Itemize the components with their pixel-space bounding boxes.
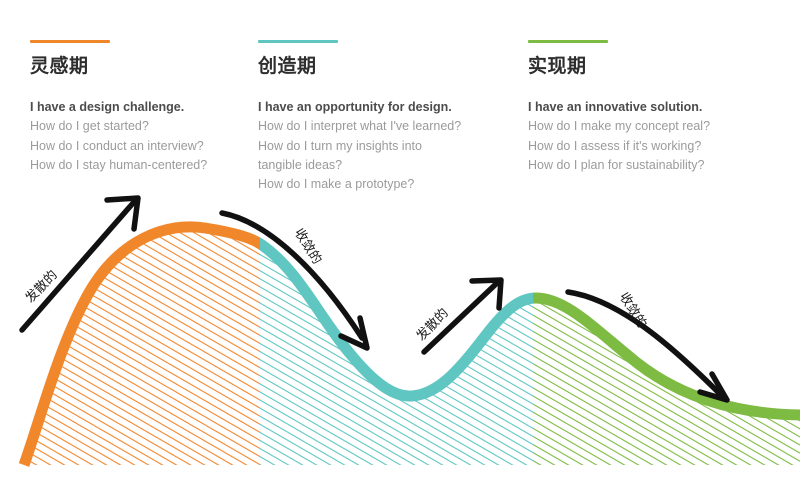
phase-question: tangible ideas? bbox=[258, 156, 488, 175]
phase-question: How do I plan for sustainability? bbox=[528, 156, 778, 175]
area-segment-inspiration bbox=[0, 180, 270, 480]
curve-hatched-area bbox=[0, 180, 800, 480]
curve-segment-inspiration bbox=[24, 227, 800, 465]
phase-column-ideation: 创造期 I have an opportunity for design. Ho… bbox=[258, 40, 488, 195]
arrow-label-diverge-2: 发散的 bbox=[411, 303, 452, 344]
curve-stroke bbox=[24, 227, 800, 465]
phase-lead-ideation: I have an opportunity for design. bbox=[258, 98, 488, 117]
area-segment-ideation bbox=[255, 180, 540, 480]
phase-rule-implementation bbox=[528, 40, 608, 43]
phase-question: How do I turn my insights into bbox=[258, 137, 488, 156]
curve-segment-ideation bbox=[24, 227, 800, 465]
phase-lead-inspiration: I have a design challenge. bbox=[30, 98, 240, 117]
arrow-label-converge-1: 收敛的 bbox=[291, 224, 328, 267]
arrow-diverge-1-shaft bbox=[22, 202, 134, 330]
curve-segment-implementation bbox=[24, 227, 800, 465]
phase-rule-ideation bbox=[258, 40, 338, 43]
phase-question: How do I conduct an interview? bbox=[30, 137, 240, 156]
phase-column-inspiration: 灵感期 I have a design challenge. How do I … bbox=[30, 40, 240, 175]
arrow-diverge-2-head bbox=[472, 280, 501, 308]
arrow-converge-2-shaft bbox=[568, 292, 722, 396]
phase-question: How do I assess if it's working? bbox=[528, 137, 778, 156]
arrow-label-converge-2: 收敛的 bbox=[616, 288, 653, 331]
phase-lead-implementation: I have an innovative solution. bbox=[528, 98, 778, 117]
phase-question: How do I get started? bbox=[30, 117, 240, 136]
arrow-label-diverge-1: 发散的 bbox=[20, 265, 61, 306]
phase-column-implementation: 实现期 I have an innovative solution. How d… bbox=[528, 40, 778, 175]
phase-question: How do I stay human-centered? bbox=[30, 156, 240, 175]
diagram-canvas: 发散的 收敛的 发散的 收敛的 灵感期 I have a design chal… bbox=[0, 0, 800, 504]
phase-title-inspiration: 灵感期 bbox=[30, 57, 240, 78]
arrow-converge-1-head bbox=[341, 318, 367, 348]
phase-question: How do I interpret what I've learned? bbox=[258, 117, 488, 136]
phase-title-implementation: 实现期 bbox=[528, 57, 778, 78]
area-segment-implementation bbox=[528, 180, 800, 480]
phase-question: How do I make my concept real? bbox=[528, 117, 778, 136]
arrow-diverge-1-head bbox=[107, 198, 138, 229]
phase-rule-inspiration bbox=[30, 40, 110, 43]
arrow-converge-2-head bbox=[700, 374, 727, 400]
phase-question: How do I make a prototype? bbox=[258, 175, 488, 194]
phase-title-ideation: 创造期 bbox=[258, 57, 488, 78]
